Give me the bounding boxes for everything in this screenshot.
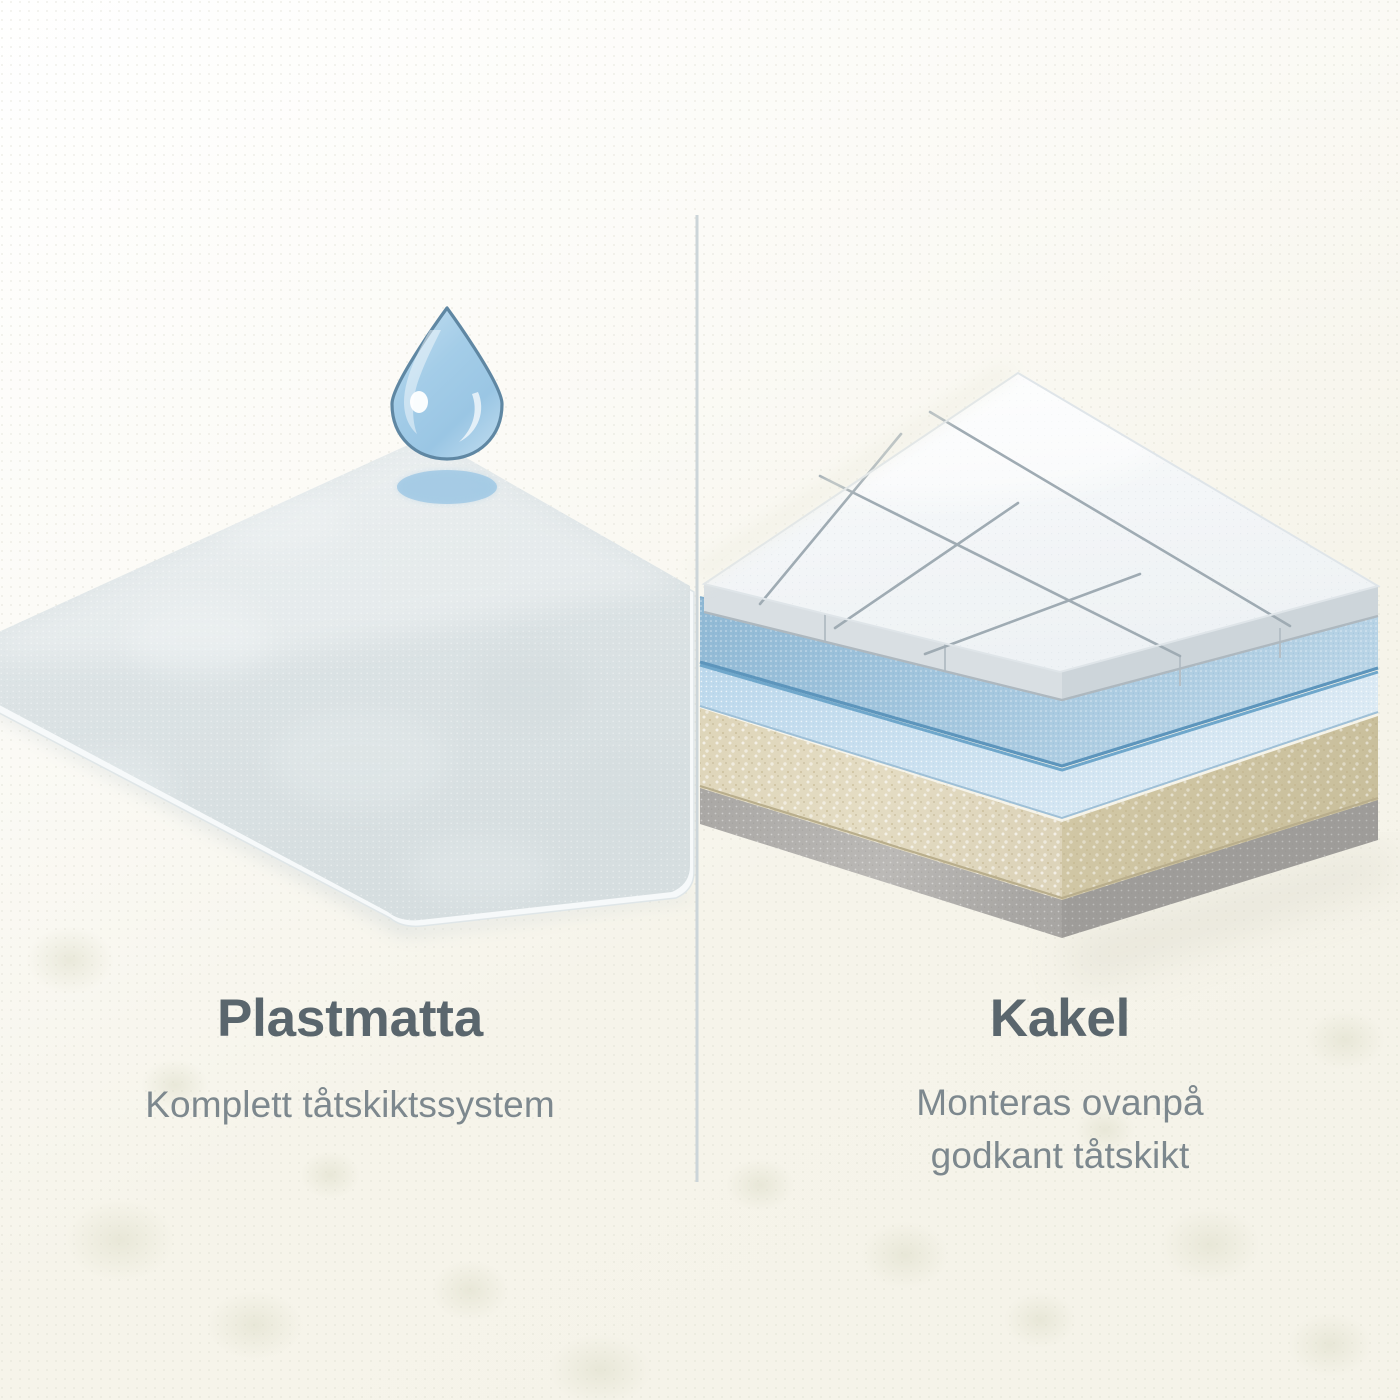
kakel-subtitle-line-2: godkant tåtskikt: [760, 1132, 1360, 1179]
kakel-subtitle-line-1: Monteras ovanpå: [760, 1079, 1360, 1126]
water-droplet-icon: [392, 308, 502, 459]
illustration-canvas: Plastmatta Komplett tåtskiktssystem Kake…: [0, 0, 1400, 1400]
droplet-highlight-icon: [410, 391, 428, 413]
kakel-caption: Kakel Monteras ovanpå godkant tåtskikt: [760, 985, 1360, 1180]
plastmatta-subtitle: Komplett tåtskiktssystem: [40, 1081, 660, 1128]
plastmatta-illustration: [0, 308, 720, 940]
plastmatta-title: Plastmatta: [40, 985, 660, 1053]
kakel-illustration: [690, 360, 1400, 986]
plastmatta-caption: Plastmatta Komplett tåtskiktssystem: [40, 985, 660, 1128]
droplet-contact-shadow-soft: [397, 470, 497, 504]
technical-illustration: [0, 0, 1400, 1400]
kakel-title: Kakel: [760, 985, 1360, 1053]
